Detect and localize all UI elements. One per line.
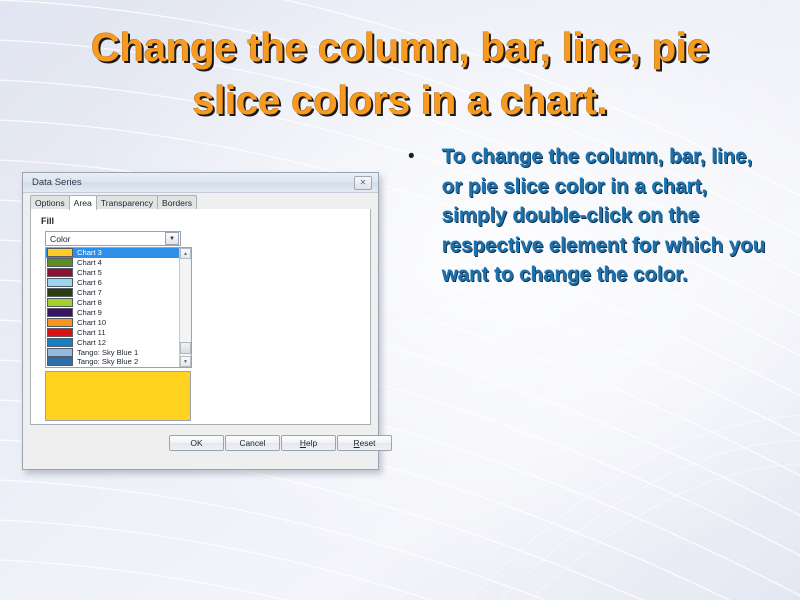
dialog-title: Data Series: [32, 177, 82, 188]
color-preview-swatch: [45, 371, 191, 421]
tab-area[interactable]: Area: [69, 195, 97, 210]
dialog-button-bar: OKCancelHelpReset: [23, 431, 378, 467]
scrollbar-thumb[interactable]: [180, 342, 191, 354]
color-swatch-icon: [47, 348, 73, 357]
color-list-item[interactable]: Chart 12: [46, 337, 179, 347]
ok-button[interactable]: OK: [169, 435, 224, 451]
slide-canvas: Change the column, bar, line, pie slice …: [0, 0, 800, 600]
color-swatch-icon: [47, 258, 73, 267]
color-list-item[interactable]: Chart 11: [46, 327, 179, 337]
color-list-items[interactable]: Chart 3Chart 4Chart 5Chart 6Chart 7Chart…: [46, 248, 179, 367]
color-list-item[interactable]: Chart 10: [46, 317, 179, 327]
color-name-label: Chart 10: [77, 318, 106, 327]
color-swatch-icon: [47, 308, 73, 317]
color-name-label: Tango: Sky Blue 1: [77, 348, 138, 357]
chevron-down-icon[interactable]: ▼: [165, 232, 179, 245]
color-list-item[interactable]: Chart 3: [46, 248, 179, 258]
tab-options[interactable]: Options: [30, 195, 70, 210]
color-swatch-icon: [47, 298, 73, 307]
color-list-scrollbar[interactable]: ▲ ▼: [179, 248, 191, 367]
color-name-label: Chart 7: [77, 288, 102, 297]
color-list-item[interactable]: Chart 4: [46, 258, 179, 268]
dialog-titlebar[interactable]: Data Series ✕: [23, 173, 378, 193]
color-swatch-icon: [47, 338, 73, 347]
color-listbox[interactable]: Chart 3Chart 4Chart 5Chart 6Chart 7Chart…: [45, 247, 192, 368]
color-name-label: Chart 9: [77, 308, 102, 317]
color-swatch-icon: [47, 268, 73, 277]
fill-type-select[interactable]: Color ▼: [45, 231, 181, 246]
tab-transparency[interactable]: Transparency: [96, 195, 158, 210]
color-list-item[interactable]: Tango: Sky Blue 2: [46, 357, 179, 367]
color-name-label: Chart 5: [77, 268, 102, 277]
color-name-label: Chart 12: [77, 338, 106, 347]
color-name-label: Chart 6: [77, 278, 102, 287]
color-swatch-icon: [47, 318, 73, 327]
reset-button[interactable]: Reset: [337, 435, 392, 451]
color-swatch-icon: [47, 357, 73, 366]
color-name-label: Tango: Sky Blue 2: [77, 357, 138, 366]
color-swatch-icon: [47, 248, 73, 257]
fill-type-value: Color: [46, 234, 165, 244]
color-list-item[interactable]: Chart 6: [46, 278, 179, 288]
color-swatch-icon: [47, 328, 73, 337]
color-name-label: Chart 8: [77, 298, 102, 307]
slide-title: Change the column, bar, line, pie slice …: [40, 22, 760, 128]
help-button[interactable]: Help: [281, 435, 336, 451]
color-swatch-icon: [47, 288, 73, 297]
close-icon[interactable]: ✕: [354, 176, 372, 190]
cancel-button[interactable]: Cancel: [225, 435, 280, 451]
color-list-item[interactable]: Chart 7: [46, 288, 179, 298]
scroll-down-icon[interactable]: ▼: [180, 356, 191, 367]
fill-group-label: Fill: [41, 216, 54, 226]
color-list-item[interactable]: Chart 9: [46, 307, 179, 317]
scroll-up-icon[interactable]: ▲: [180, 248, 191, 259]
tab-borders[interactable]: Borders: [157, 195, 197, 210]
color-name-label: Chart 3: [77, 248, 102, 257]
color-list-item[interactable]: Chart 8: [46, 298, 179, 308]
bullet-text: To change the column, bar, line, or pie …: [422, 142, 770, 290]
color-name-label: Chart 11: [77, 328, 106, 337]
color-list-item[interactable]: Chart 5: [46, 268, 179, 278]
color-list-item[interactable]: Tango: Sky Blue 1: [46, 347, 179, 357]
color-name-label: Chart 4: [77, 258, 102, 267]
tab-panel-area: Fill Color ▼ Chart 3Chart 4Chart 5Chart …: [30, 209, 371, 425]
bullet-marker-icon: •: [408, 142, 422, 172]
bullet-list: • To change the column, bar, line, or pi…: [408, 142, 770, 290]
color-swatch-icon: [47, 278, 73, 287]
data-series-dialog: Data Series ✕ OptionsAreaTransparencyBor…: [22, 172, 379, 470]
